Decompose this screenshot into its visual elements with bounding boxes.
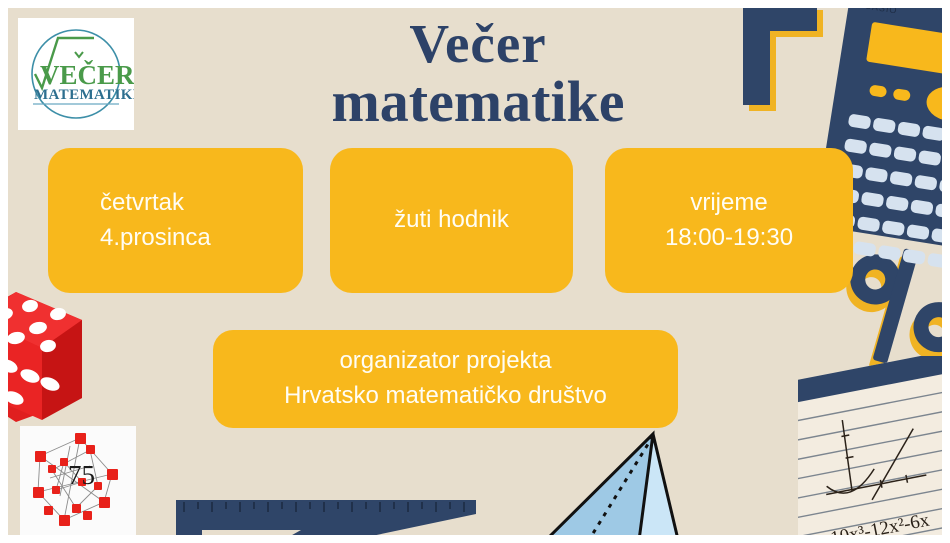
time-card-line-1: vrijeme [690,186,767,221]
date-card-line-2: 4.prosinca [100,221,211,256]
organizer-card: organizator projekta Hrvatsko matematičk… [213,330,678,428]
time-card: vrijeme 18:00-19:30 [605,148,853,293]
vecer-matematike-logo: VEČER MATEMATIKE [18,18,134,130]
dice-icon [8,286,116,422]
percent-sign-icon [846,237,942,371]
page-title: Večer matematike [188,16,768,131]
calculator-brand-label: CASIO [864,8,898,16]
title-line-2: matematike [188,72,768,131]
organizer-card-line-1: organizator projekta [339,344,551,379]
triangle-ruler-icon [176,496,476,535]
logo-word-vecer: VEČER [40,60,134,90]
slide-canvas: CASIO [8,8,942,535]
presentation-slide: CASIO [0,0,950,543]
calculator-round-key [924,84,942,125]
notebook-sketch-image: 10x³-12x²-6x [798,356,942,535]
graph-value-75: 75 [68,460,95,490]
title-line-1: Večer [188,16,768,72]
place-card-line-1: žuti hodnik [394,203,509,238]
date-card: četvrtak 4.prosinca [48,148,303,293]
date-card-line-1: četvrtak [100,186,184,221]
graph-75-image: 75 [20,426,136,535]
place-card: žuti hodnik [330,148,573,293]
organizer-card-line-2: Hrvatsko matematičko društvo [284,379,607,414]
pyramid-shape-icon [528,428,728,535]
time-card-line-2: 18:00-19:30 [665,221,793,256]
notebook-equation: 10x³-12x²-6x [829,509,932,535]
logo-word-matematike: MATEMATIKE [34,87,134,103]
calculator-screen [866,22,942,79]
